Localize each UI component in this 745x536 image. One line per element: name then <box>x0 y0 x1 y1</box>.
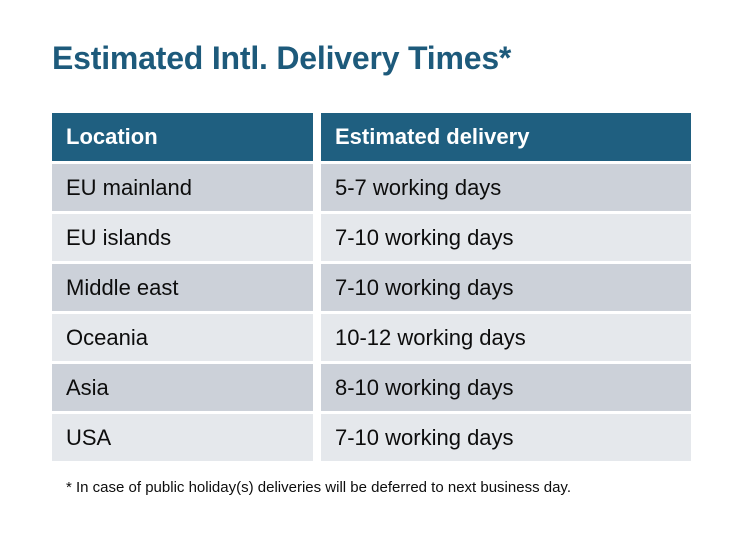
cell-location: Asia <box>52 364 313 411</box>
cell-location: EU mainland <box>52 164 313 211</box>
cell-estimated-delivery: 7-10 working days <box>321 214 691 261</box>
cell-location: Oceania <box>52 314 313 361</box>
column-header-location: Location <box>52 113 313 161</box>
table-row: EU mainland 5-7 working days <box>52 164 691 211</box>
table-row: USA 7-10 working days <box>52 414 691 461</box>
footnote-text: * In case of public holiday(s) deliverie… <box>66 478 571 498</box>
table-row: Middle east 7-10 working days <box>52 264 691 311</box>
delivery-times-table: Location Estimated delivery EU mainland … <box>52 113 691 461</box>
table-row: Oceania 10-12 working days <box>52 314 691 361</box>
cell-estimated-delivery: 10-12 working days <box>321 314 691 361</box>
cell-location: USA <box>52 414 313 461</box>
table-row: Asia 8-10 working days <box>52 364 691 411</box>
cell-estimated-delivery: 7-10 working days <box>321 264 691 311</box>
cell-location: EU islands <box>52 214 313 261</box>
delivery-times-page: Estimated Intl. Delivery Times* Location… <box>0 0 745 536</box>
cell-estimated-delivery: 5-7 working days <box>321 164 691 211</box>
table-header-row: Location Estimated delivery <box>52 113 691 161</box>
column-header-estimated-delivery: Estimated delivery <box>321 113 691 161</box>
cell-estimated-delivery: 8-10 working days <box>321 364 691 411</box>
cell-estimated-delivery: 7-10 working days <box>321 414 691 461</box>
page-title: Estimated Intl. Delivery Times* <box>52 38 511 78</box>
cell-location: Middle east <box>52 264 313 311</box>
table-row: EU islands 7-10 working days <box>52 214 691 261</box>
